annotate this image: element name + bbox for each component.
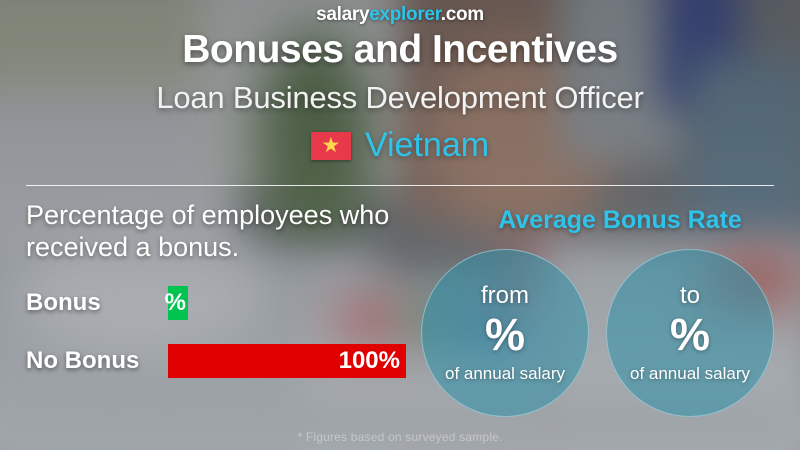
footnote: * Figures based on surveyed sample. — [0, 430, 800, 444]
bar-track-bonus: % — [168, 286, 188, 320]
bonus-rate-from-sublabel: of annual salary — [445, 365, 565, 382]
country-row: ★ Vietnam — [0, 126, 800, 165]
bonus-rate-from-circle: from % of annual salary — [421, 249, 589, 417]
bar-value-no-bonus: 100% — [339, 347, 400, 375]
bar-track-no-bonus: 100% — [168, 344, 406, 378]
bonus-rate-to-circle: to % of annual salary — [606, 249, 774, 417]
logo-text-explorer: explorer — [369, 4, 441, 25]
page-subtitle: Loan Business Development Officer — [0, 80, 800, 116]
bar-fill-bonus: % — [168, 286, 188, 320]
logo-text-com: .com — [441, 4, 484, 25]
bar-fill-no-bonus: 100% — [168, 344, 406, 378]
page-title: Bonuses and Incentives — [0, 28, 800, 72]
bonus-rate-to-value: % — [670, 312, 710, 357]
infographic-card: salaryexplorer.com Bonuses and Incentive… — [0, 0, 800, 450]
bar-row-no-bonus: No Bonus 100% — [26, 341, 426, 379]
bar-row-bonus: Bonus % — [26, 283, 426, 321]
bonus-bar-chart: Bonus % No Bonus 100% — [26, 283, 426, 399]
bonus-rate-from-label: from — [481, 284, 529, 308]
bar-label-no-bonus: No Bonus — [26, 347, 139, 375]
bonus-rate-to-label: to — [680, 284, 700, 308]
header-divider — [26, 185, 774, 186]
average-bonus-rate-heading: Average Bonus Rate — [455, 206, 785, 235]
flag-star-icon: ★ — [322, 135, 341, 156]
bonus-rate-from-value: % — [485, 312, 525, 357]
bonus-percentage-lead-text: Percentage of employees who received a b… — [26, 200, 456, 263]
bar-value-bonus: % — [165, 289, 186, 317]
vietnam-flag-icon: ★ — [311, 132, 351, 160]
bonus-rate-to-sublabel: of annual salary — [630, 365, 750, 382]
logo-text-salary: salary — [316, 4, 369, 25]
country-name: Vietnam — [365, 126, 489, 165]
bar-label-bonus: Bonus — [26, 289, 101, 317]
site-logo[interactable]: salaryexplorer.com — [0, 4, 800, 26]
